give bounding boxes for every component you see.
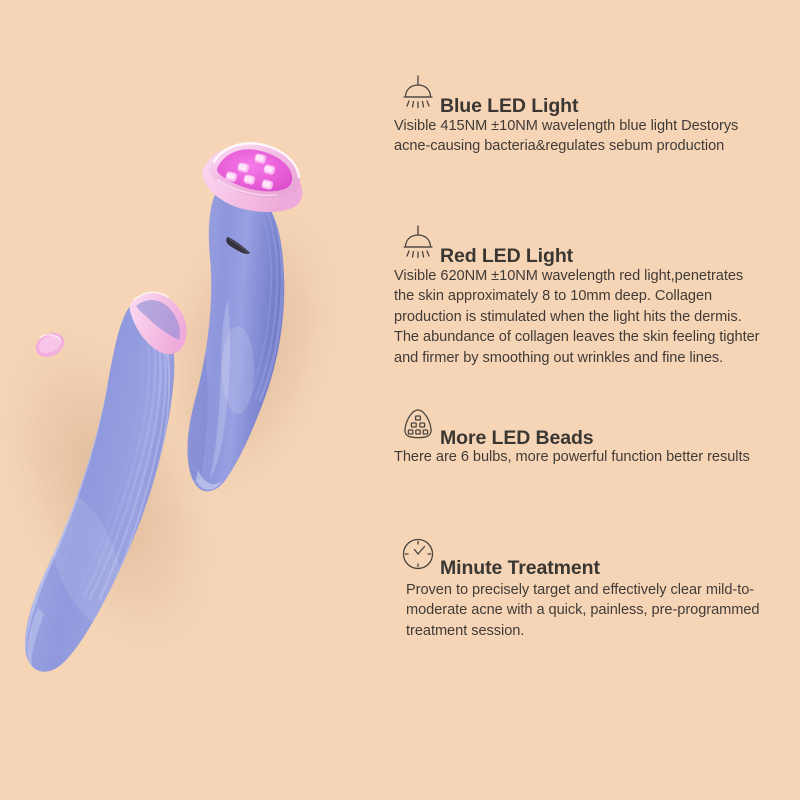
feature-header: Minute Treatment xyxy=(392,534,792,574)
feature-title: Blue LED Light xyxy=(440,95,578,118)
feature-description: Visible 620NM ±10NM wavelength red light… xyxy=(394,266,766,368)
feature-more-led-beads: More LED Beads There are 6 bulbs, more p… xyxy=(392,404,792,467)
product-image-group xyxy=(0,0,390,800)
feature-title: Minute Treatment xyxy=(440,557,600,580)
led-beads-triangle-icon xyxy=(398,404,438,444)
feature-minute-treatment: Minute Treatment Proven to precisely tar… xyxy=(392,534,792,641)
feature-list: Blue LED Light Visible 415NM ±10NM wavel… xyxy=(392,0,800,800)
feature-title: Red LED Light xyxy=(440,245,573,268)
feature-title: More LED Beads xyxy=(440,427,594,450)
product-infographic: Blue LED Light Visible 415NM ±10NM wavel… xyxy=(0,0,800,800)
feature-blue-led-light: Blue LED Light Visible 415NM ±10NM wavel… xyxy=(392,72,792,157)
clock-icon xyxy=(398,534,438,574)
feature-description: Visible 415NM ±10NM wavelength blue ligh… xyxy=(394,116,766,157)
feature-description: Proven to precisely target and effective… xyxy=(406,580,772,641)
feature-red-led-light: Red LED Light Visible 620NM ±10NM wavele… xyxy=(392,222,792,368)
feature-header: Red LED Light xyxy=(392,222,792,262)
pendant-lamp-icon xyxy=(398,222,438,262)
feature-header: Blue LED Light xyxy=(392,72,792,112)
feature-header: More LED Beads xyxy=(392,404,792,444)
pendant-lamp-icon xyxy=(398,72,438,112)
